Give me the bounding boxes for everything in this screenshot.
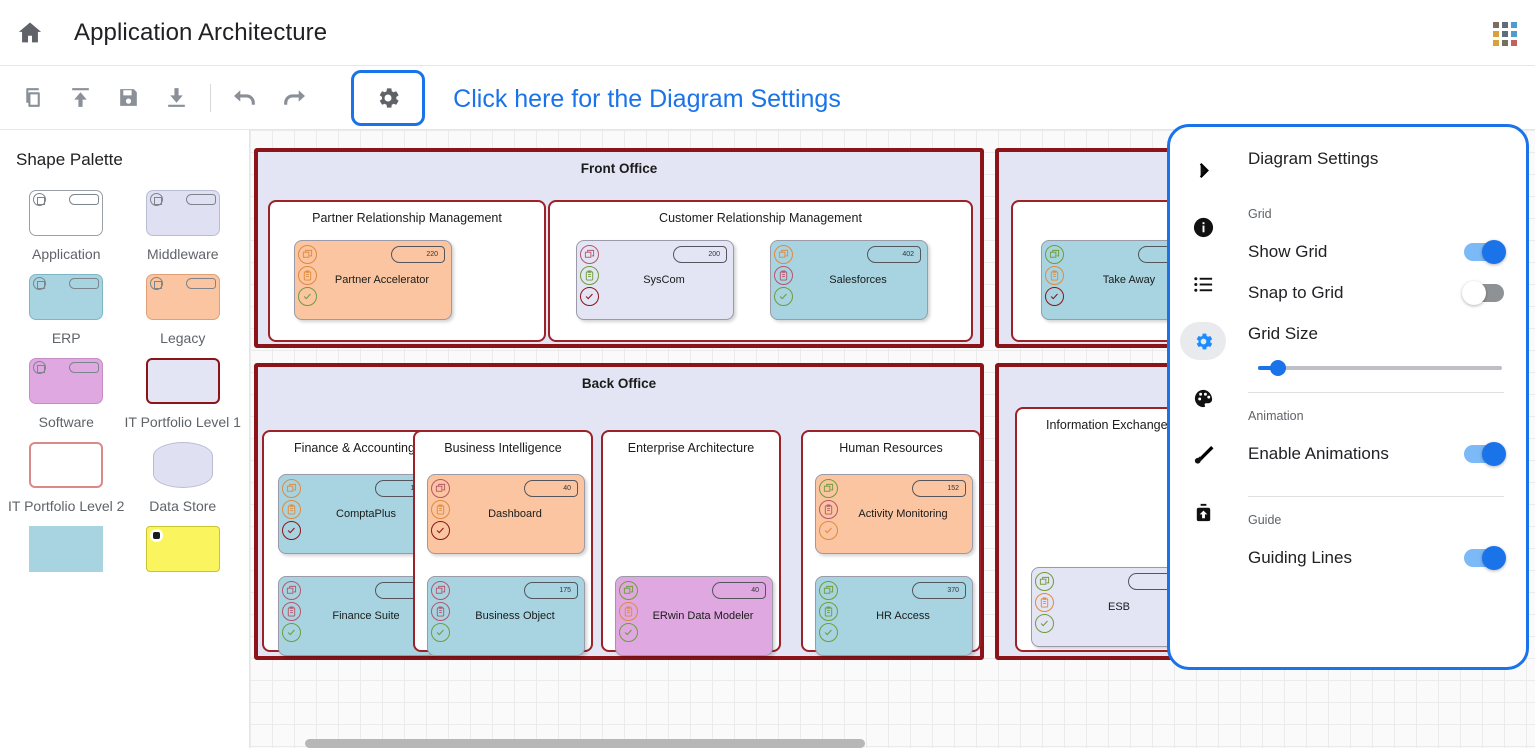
page-title: Application Architecture <box>74 19 327 47</box>
apps-grid-cell <box>1502 31 1508 37</box>
palette-item-label: Data Store <box>149 498 216 514</box>
download-button[interactable] <box>152 74 200 122</box>
diagram-node[interactable]: 175Business Object <box>427 576 585 656</box>
shape-palette-panel: Shape Palette ApplicationMiddlewareERPLe… <box>0 130 250 748</box>
node-badge: 40 <box>712 582 766 599</box>
toggle-guiding-lines[interactable] <box>1464 549 1504 567</box>
diagram-subgroup[interactable]: Business Intelligence40Dashboard175Busin… <box>413 430 593 652</box>
node-check-icon <box>819 521 838 540</box>
palette-item-legacy[interactable]: Legacy <box>125 274 242 346</box>
node-label: ESB <box>1032 601 1188 613</box>
undo-icon <box>233 85 258 110</box>
diagram-settings-panel: Diagram Settings GridShow GridSnap to Gr… <box>1167 124 1529 670</box>
node-check-icon <box>774 287 793 306</box>
settings-divider <box>1248 392 1504 393</box>
node-badge: 200 <box>673 246 727 263</box>
node-window-icon <box>580 245 599 264</box>
diagram-node[interactable]: 40Dashboard <box>427 474 585 554</box>
node-check-icon <box>619 623 638 642</box>
toggle-show-grid[interactable] <box>1464 243 1504 261</box>
download-icon <box>164 85 189 110</box>
save-button[interactable] <box>104 74 152 122</box>
node-badge: 40 <box>524 480 578 497</box>
settings-row-label: Grid Size <box>1248 324 1318 344</box>
shape-corner-icon <box>150 277 163 290</box>
settings-section-label: Guide <box>1248 513 1504 527</box>
diagram-settings-button[interactable] <box>351 70 425 126</box>
diagram-node[interactable]: 40ERwin Data Modeler <box>615 576 773 656</box>
redo-button[interactable] <box>269 74 317 122</box>
node-window-icon <box>431 479 450 498</box>
shape-body <box>146 358 220 404</box>
diagram-subgroup-title: Enterprise Architecture <box>603 441 779 456</box>
toolbar-divider <box>210 84 211 112</box>
palette-item-label: IT Portfolio Level 1 <box>125 414 241 430</box>
settings-row: Snap to Grid <box>1248 272 1504 313</box>
settings-divider <box>1248 496 1504 497</box>
node-check-icon <box>431 521 450 540</box>
palette-item-label: Software <box>39 414 94 430</box>
node-window-icon <box>1035 572 1054 591</box>
node-check-icon <box>1035 614 1054 633</box>
shape-corner-icon <box>33 361 46 374</box>
node-check-icon <box>282 521 301 540</box>
node-window-icon <box>819 581 838 600</box>
node-check-icon <box>298 287 317 306</box>
delete-tab[interactable] <box>1180 493 1226 531</box>
diagram-subgroup-title: Partner Relationship Management <box>270 211 544 226</box>
node-window-icon <box>1045 245 1064 264</box>
palette-item-label: Middleware <box>147 246 219 262</box>
shape-body <box>29 442 103 488</box>
settings-row-label: Show Grid <box>1248 242 1327 262</box>
diagram-node[interactable]: 370HR Access <box>815 576 973 656</box>
node-label: Activity Monitoring <box>816 508 972 520</box>
node-check-icon <box>282 623 301 642</box>
list-icon <box>1192 273 1215 296</box>
copy-icon <box>20 85 45 110</box>
info-icon <box>1192 216 1215 239</box>
settings-section-label: Animation <box>1248 409 1504 423</box>
brush-icon <box>1192 444 1215 467</box>
redo-icon <box>281 85 306 110</box>
apps-grid-cell <box>1511 40 1517 46</box>
diagram-group-title: Back Office <box>258 376 980 391</box>
node-label: ERwin Data Modeler <box>616 610 772 622</box>
node-label: Dashboard <box>428 508 584 520</box>
settings-panel-title: Diagram Settings <box>1248 149 1504 169</box>
palette-item-middleware[interactable]: Middleware <box>125 190 242 262</box>
apps-grid-icon[interactable] <box>1493 22 1517 46</box>
brush-tab[interactable] <box>1180 436 1226 474</box>
apps-grid-cell <box>1511 22 1517 28</box>
settings-row-label: Guiding Lines <box>1248 548 1352 568</box>
apps-grid-cell <box>1502 40 1508 46</box>
node-badge: 402 <box>867 246 921 263</box>
apps-grid-cell <box>1511 31 1517 37</box>
diagram-subgroup-title: Human Resources <box>803 441 979 456</box>
palette-item-application[interactable]: Application <box>8 190 125 262</box>
toggle-enable-animations[interactable] <box>1464 445 1504 463</box>
application-root: Application Architecture Click here for … <box>0 0 1535 748</box>
shape-corner-icon <box>33 277 46 290</box>
node-badge: 370 <box>912 582 966 599</box>
node-check-icon <box>819 623 838 642</box>
node-window-icon <box>774 245 793 264</box>
list-tab[interactable] <box>1180 265 1226 303</box>
shape-tag-icon <box>69 362 99 373</box>
node-window-icon <box>282 581 301 600</box>
diagram-subgroup-title: Business Intelligence <box>415 441 591 456</box>
gear-icon <box>1192 330 1215 353</box>
diagram-node[interactable]: 200SysCom <box>576 240 734 320</box>
toggle-knob <box>1462 281 1486 305</box>
diagram-subgroup[interactable]: Partner Relationship Management220Partne… <box>268 200 546 342</box>
shape-body <box>29 526 103 572</box>
node-label: Salesforces <box>771 274 927 286</box>
diagram-node[interactable]: 402Salesforces <box>770 240 928 320</box>
node-check-icon <box>580 287 599 306</box>
shape-tag-icon <box>69 194 99 205</box>
upload-icon <box>68 85 93 110</box>
diagram-group-title: Front Office <box>258 161 980 176</box>
settings-row-label: Snap to Grid <box>1248 283 1343 303</box>
horizontal-scrollbar[interactable] <box>305 739 865 748</box>
palette-item-erp[interactable]: ERP <box>8 274 125 346</box>
shape-tag-icon <box>69 278 99 289</box>
node-window-icon <box>298 245 317 264</box>
palette-item-label: Application <box>32 246 101 262</box>
settings-row: Show Grid <box>1248 231 1504 272</box>
node-badge: 152 <box>912 480 966 497</box>
toggle-snap-to-grid[interactable] <box>1464 284 1504 302</box>
toggle-knob <box>1482 240 1506 264</box>
diagram-group[interactable]: Front OfficePartner Relationship Managem… <box>254 148 984 348</box>
node-label: ComptaPlus <box>279 508 435 520</box>
palette-tab[interactable] <box>1180 379 1226 417</box>
shape-palette-title: Shape Palette <box>0 130 249 170</box>
node-badge: 220 <box>391 246 445 263</box>
shape-palette-grid: ApplicationMiddlewareERPLegacySoftwareIT… <box>0 170 249 582</box>
undo-button[interactable] <box>221 74 269 122</box>
settings-row: Enable Animations <box>1248 433 1504 474</box>
apps-grid-cell <box>1502 22 1508 28</box>
node-window-icon <box>282 479 301 498</box>
settings-callout-text: Click here for the Diagram Settings <box>447 84 847 114</box>
palette-item-it-portfolio-level-2[interactable]: IT Portfolio Level 2 <box>8 442 125 514</box>
shape-body <box>146 526 220 572</box>
palette-item-it-portfolio-level-1[interactable]: IT Portfolio Level 1 <box>125 358 242 430</box>
palette-item-software[interactable]: Software <box>8 358 125 430</box>
settings-sections: GridShow GridSnap to GridGrid SizeAnimat… <box>1248 207 1504 578</box>
apps-grid-cell <box>1493 22 1499 28</box>
palette-item-label: Legacy <box>160 330 205 346</box>
palette-item-shape-9[interactable] <box>125 526 242 582</box>
slider-wrap <box>1248 354 1504 370</box>
palette-item-label: ERP <box>52 330 81 346</box>
node-check-icon <box>1045 287 1064 306</box>
upload-button[interactable] <box>56 74 104 122</box>
settings-row-label: Enable Animations <box>1248 444 1389 464</box>
apps-grid-cell <box>1493 31 1499 37</box>
toggle-knob <box>1482 546 1506 570</box>
node-label: SysCom <box>577 274 733 286</box>
shape-body <box>153 442 213 488</box>
main-toolbar: Click here for the Diagram Settings <box>0 66 1535 130</box>
palette-item-shape-8[interactable] <box>8 526 125 582</box>
toggle-knob <box>1482 442 1506 466</box>
grid-size-slider[interactable] <box>1258 366 1502 370</box>
shape-tag-icon <box>186 278 216 289</box>
copy-button[interactable] <box>8 74 56 122</box>
diagram-subgroup[interactable]: Human Resources152Activity Monitoring370… <box>801 430 981 652</box>
node-window-icon <box>431 581 450 600</box>
palette-item-label: IT Portfolio Level 2 <box>8 498 124 514</box>
diagram-node[interactable]: 152Activity Monitoring <box>815 474 973 554</box>
diagram-group[interactable]: Back OfficeFinance & Accounting150Compta… <box>254 363 984 660</box>
info-tab[interactable] <box>1180 208 1226 246</box>
node-label: Finance Suite <box>279 610 435 622</box>
settings-body: Diagram Settings GridShow GridSnap to Gr… <box>1236 127 1526 667</box>
node-check-icon <box>431 623 450 642</box>
settings-tab[interactable] <box>1180 322 1226 360</box>
palette-icon <box>1192 387 1215 410</box>
node-window-icon <box>819 479 838 498</box>
slider-thumb[interactable] <box>1270 360 1286 376</box>
diagram-subgroup-title: Customer Relationship Management <box>550 211 971 226</box>
chevron-right-icon <box>1192 159 1215 182</box>
node-label: Partner Accelerator <box>295 274 451 286</box>
settings-row: Guiding Lines <box>1248 537 1504 578</box>
gear-icon <box>374 84 402 112</box>
apps-grid-cell <box>1493 40 1499 46</box>
diagram-node[interactable]: 15ESB <box>1031 567 1189 647</box>
collapse-panel-button[interactable] <box>1180 151 1226 189</box>
settings-section-label: Grid <box>1248 207 1504 221</box>
diagram-node[interactable]: 220Partner Accelerator <box>294 240 452 320</box>
node-badge: 175 <box>524 582 578 599</box>
shape-corner-icon <box>150 193 163 206</box>
home-icon <box>16 19 44 47</box>
app-header: Application Architecture <box>0 0 1535 66</box>
palette-item-data-store[interactable]: Data Store <box>125 442 242 514</box>
node-label: Business Object <box>428 610 584 622</box>
home-button[interactable] <box>0 0 60 66</box>
diagram-subgroup[interactable]: Enterprise Architecture40ERwin Data Mode… <box>601 430 781 652</box>
settings-row: Grid Size <box>1248 313 1504 354</box>
trash-icon <box>1192 501 1215 524</box>
node-window-icon <box>619 581 638 600</box>
node-label: HR Access <box>816 610 972 622</box>
shape-corner-icon <box>33 193 46 206</box>
save-icon <box>116 85 141 110</box>
shape-tag-icon <box>186 194 216 205</box>
settings-rail <box>1170 127 1236 667</box>
diagram-subgroup[interactable]: Customer Relationship Management200SysCo… <box>548 200 973 342</box>
